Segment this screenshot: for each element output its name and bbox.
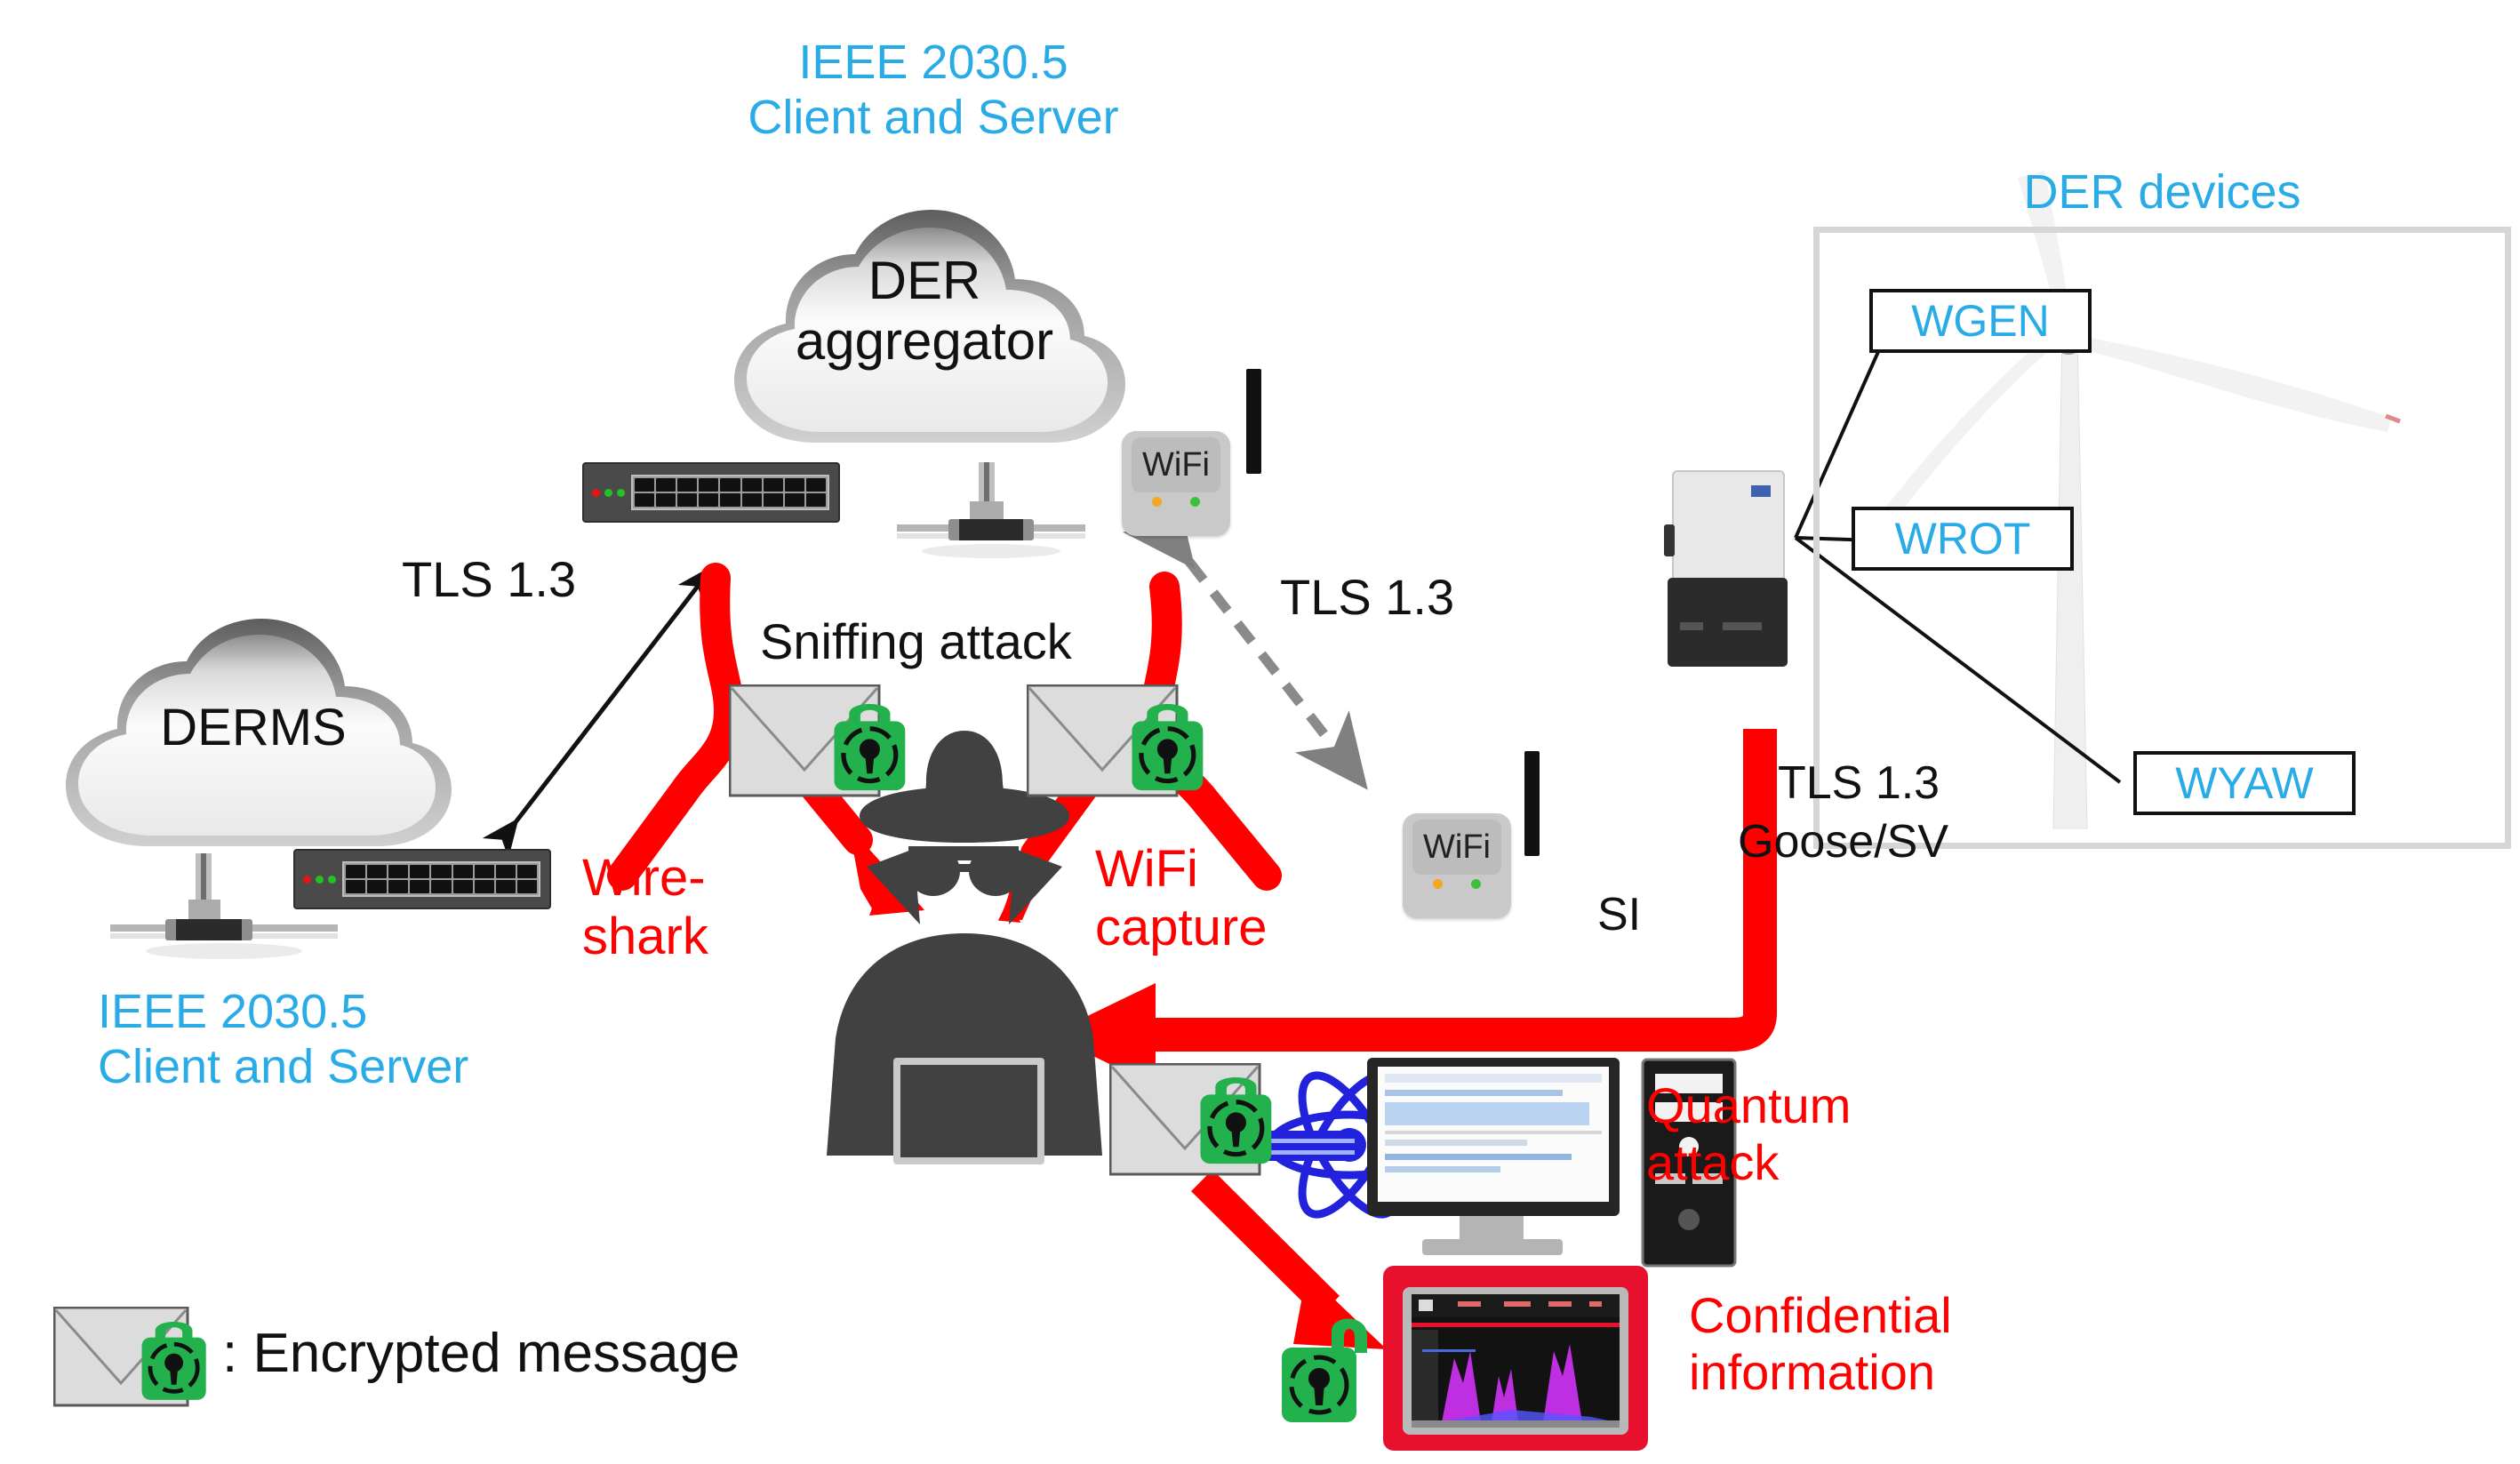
tls-label-left: TLS 1.3 <box>402 551 576 608</box>
switch-leds <box>592 489 625 497</box>
encrypted-message-icon <box>1109 1063 1259 1175</box>
derms-protocol-label: IEEE 2030.5 Client and Server <box>98 985 468 1094</box>
wifi-leds <box>1418 879 1496 889</box>
led-red <box>303 876 311 884</box>
tls-der-label-line2: Goose/SV <box>1738 816 1948 868</box>
der-device-box-wrot: WROT <box>1852 507 2074 571</box>
wifi-label: WiFi <box>1142 446 1210 484</box>
encrypted-message-icon <box>53 1307 187 1406</box>
quantum-attack-label: Quantum attack <box>1646 1077 1851 1191</box>
spectrum-analyzer-icon <box>1383 1266 1648 1451</box>
confidential-information-label: Confidential information <box>1689 1287 1952 1401</box>
encrypted-message-icon <box>729 684 878 796</box>
antenna-icon <box>1524 751 1540 856</box>
der-device-label: WGEN <box>1911 295 2050 347</box>
wifi-access-point-top: WiFi <box>1122 431 1230 536</box>
switch-ports <box>631 475 829 511</box>
switch-leds <box>303 876 336 884</box>
wifi-label: WiFi <box>1423 828 1491 867</box>
der-device-label: WYAW <box>2175 757 2314 809</box>
legend: : Encrypted message <box>53 1307 853 1440</box>
aggregator-protocol-label: IEEE 2030.5 Client and Server <box>693 36 1173 145</box>
wireshark-label: Wire- shark <box>582 849 708 966</box>
derms-switch <box>293 849 551 909</box>
led-orange <box>1433 879 1443 889</box>
derms-cloud: DERMS <box>44 613 462 880</box>
wifi-leds <box>1137 497 1215 507</box>
tls-label-wifi: TLS 1.3 <box>1280 569 1454 626</box>
wifi-screen: WiFi <box>1132 437 1220 492</box>
led-green-1 <box>316 876 324 884</box>
led-green <box>1190 497 1200 507</box>
antenna-icon <box>1246 369 1261 474</box>
tls-der-label-line1: TLS 1.3 <box>1778 757 1940 810</box>
led-green-2 <box>328 876 336 884</box>
led-red <box>592 489 600 497</box>
led-green-2 <box>617 489 625 497</box>
der-device-label: WROT <box>1895 513 2031 564</box>
legend-text: : Encrypted message <box>222 1323 740 1386</box>
der-device-box-wgen: WGEN <box>1869 289 2092 353</box>
open-padlock-icon <box>1275 1305 1380 1436</box>
der-aggregator-cloud: DER aggregator <box>711 204 1138 480</box>
switch-ports <box>342 861 540 898</box>
der-aggregator-switch <box>582 462 840 523</box>
der-device-box-wyaw: WYAW <box>2133 751 2356 815</box>
si-label: SI <box>1597 889 1641 941</box>
wifi-capture-label: WiFi capture <box>1095 840 1267 957</box>
encrypted-message-icon <box>1027 684 1176 796</box>
der-devices-title: DER devices <box>1813 165 2511 220</box>
led-orange <box>1152 497 1162 507</box>
computer-monitor-icon <box>1367 1058 1620 1255</box>
led-green <box>1471 879 1481 889</box>
der-aggregator-stand <box>893 462 1089 560</box>
wifi-access-point-bottom: WiFi <box>1403 813 1511 918</box>
sniffing-attack-label: Sniffing attack <box>760 613 1072 670</box>
inverter-icon <box>1664 471 1788 667</box>
led-green-1 <box>604 489 612 497</box>
wifi-screen: WiFi <box>1412 820 1501 875</box>
